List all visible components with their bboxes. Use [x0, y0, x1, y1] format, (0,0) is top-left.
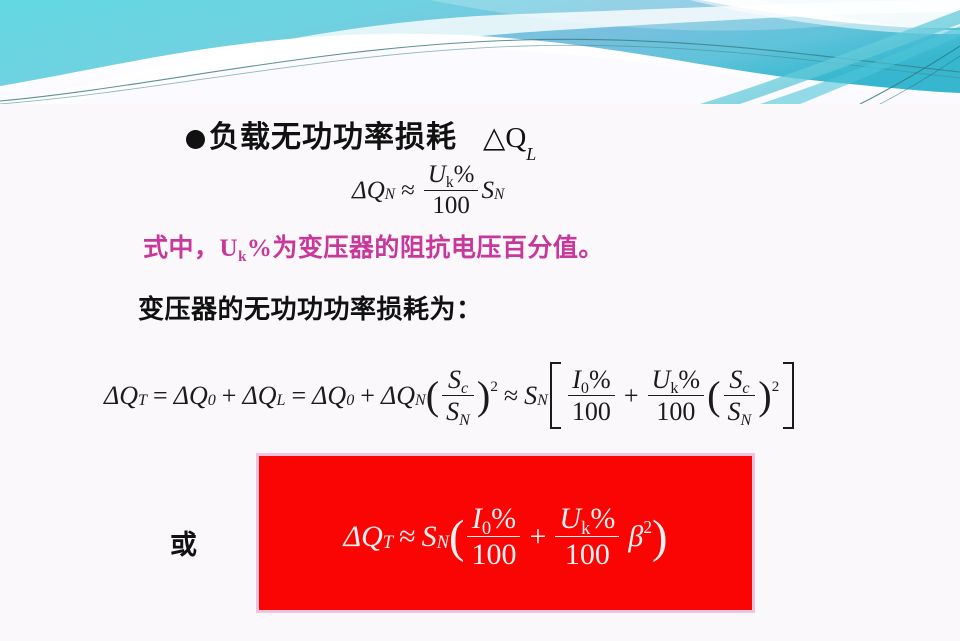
- f2-delta-4: Δ: [312, 381, 327, 411]
- f3-frac-i0: I0% 100: [467, 503, 520, 571]
- or-label: 或: [170, 523, 197, 562]
- f1-q: Q: [367, 177, 385, 205]
- f2-q-4: Q: [327, 381, 346, 411]
- f2-sub-0b: 0: [346, 392, 354, 410]
- f3-beta-sup: 2: [643, 517, 652, 538]
- f2-rparen-1: ): [477, 372, 490, 419]
- f1-relation: ≈: [401, 177, 415, 205]
- f2-i-pct: %: [589, 365, 611, 394]
- f3-uk-den: 100: [555, 536, 619, 571]
- f3-uk-num: Uk%: [555, 503, 619, 536]
- f2-sup-2: 2: [772, 379, 780, 396]
- f2-s-outer: S: [524, 381, 537, 411]
- f3-s: S: [422, 520, 437, 554]
- f2-sc-1: S: [448, 365, 461, 394]
- f2-sc-2: S: [729, 365, 742, 394]
- pink-var-sub: k: [238, 249, 247, 265]
- f2-frac1-num: Sc: [444, 366, 472, 395]
- title-delta: △: [483, 122, 505, 154]
- f2-bracket-left: [550, 362, 561, 429]
- f1-delta: Δ: [352, 177, 367, 205]
- f1-num-var: U: [428, 161, 446, 188]
- f1-num-pct: %: [454, 161, 475, 188]
- bullet-icon: [186, 130, 205, 149]
- f3-frac-uk: Uk% 100: [555, 503, 619, 571]
- f2-sn-2: S: [728, 397, 741, 426]
- f2-eq-2: =: [291, 381, 306, 411]
- pink-suffix: 为变压器的阻抗电压百分值。: [272, 233, 604, 262]
- f3-delta: Δ: [343, 520, 361, 554]
- f2-sc-2-sub: c: [742, 380, 749, 397]
- f2-frac-sc-sn-1: Sc SN: [442, 366, 474, 425]
- f2-sn-1: S: [446, 397, 459, 426]
- f2-bracket-right: [783, 362, 794, 429]
- formula-delta-qt-simplified: ΔQT ≈ SN ( I0% 100 + Uk% 100 β2 ): [343, 503, 667, 571]
- f3-i: I: [472, 502, 482, 535]
- highlighted-formula-box: ΔQT ≈ SN ( I0% 100 + Uk% 100 β2 ): [256, 453, 755, 613]
- f1-q-sub: N: [385, 186, 395, 204]
- f3-rparen: ): [652, 511, 668, 564]
- f2-sn-2-sub: N: [741, 412, 752, 429]
- f2-approx: ≈: [504, 381, 518, 411]
- f3-q-sub: T: [383, 532, 393, 554]
- f2-frac-sc-sn-2: Sc SN: [724, 366, 756, 425]
- f2-delta-5: Δ: [381, 381, 396, 411]
- f3-u-sub: k: [581, 518, 590, 539]
- f2-frac2-num: Sc: [725, 366, 753, 395]
- f2-u: U: [652, 365, 671, 394]
- f3-s-sub: N: [437, 532, 449, 554]
- section-note: 变压器的无功功功率损耗为：: [138, 289, 483, 326]
- f2-q-2: Q: [189, 381, 208, 411]
- f2-frac-i0: I0% 100: [568, 366, 615, 425]
- pink-var-letter: U: [220, 235, 239, 262]
- f2-frac1-den: SN: [442, 395, 474, 426]
- f2-delta-3: Δ: [242, 381, 257, 411]
- f1-fraction: Uk% 100: [424, 162, 479, 219]
- f2-s-outer-sub: N: [537, 392, 548, 410]
- title-text: 负载无功功率损耗: [209, 112, 457, 156]
- title-subscript: L: [526, 144, 536, 164]
- f3-i0-den: 100: [467, 536, 520, 571]
- f2-uk-num: Uk%: [648, 366, 705, 395]
- f2-u-pct: %: [678, 365, 700, 394]
- f2-frac2-den: SN: [724, 395, 756, 426]
- f2-u-sub: k: [670, 380, 678, 397]
- title-var: Q: [505, 122, 526, 154]
- f2-sub-T: T: [138, 392, 147, 410]
- pink-prefix: 式中，: [143, 233, 220, 262]
- f1-s: S: [481, 177, 494, 205]
- f3-plus: +: [529, 520, 546, 554]
- f1-num-sub: k: [446, 174, 454, 191]
- f2-delta-1: Δ: [104, 381, 119, 411]
- f2-q-1: Q: [119, 381, 138, 411]
- f2-i-sub: 0: [581, 380, 589, 397]
- f2-uk-den: 100: [648, 395, 705, 426]
- f1-denominator: 100: [424, 190, 479, 220]
- pink-explanation-note: 式中，Uk%为变压器的阻抗电压百分值。: [143, 228, 604, 264]
- f2-plus-1: +: [222, 381, 237, 411]
- f3-u-pct: %: [590, 502, 615, 535]
- f2-plus-3: +: [624, 381, 639, 411]
- f2-i0-den: 100: [568, 395, 615, 426]
- f2-plus-2: +: [360, 381, 375, 411]
- f2-lparen-2: (: [707, 372, 720, 419]
- f2-eq-1: =: [153, 381, 168, 411]
- f3-i-pct: %: [491, 502, 516, 535]
- f2-sc-1-sub: c: [461, 380, 468, 397]
- f3-beta: β: [628, 520, 643, 554]
- formula-delta-qn: ΔQN ≈ Uk% 100 SN: [352, 162, 504, 219]
- f2-sn-1-sub: N: [459, 412, 470, 429]
- f2-sub-N1: N: [415, 392, 426, 410]
- f3-u: U: [559, 502, 581, 535]
- slide-title: 负载无功功率损耗 △QL: [186, 112, 536, 159]
- f1-s-sub: N: [494, 186, 504, 204]
- title-symbol: △QL: [483, 120, 536, 159]
- f3-lparen: (: [449, 511, 465, 564]
- f2-bracket-content: I0% 100 + Uk% 100 ( Sc SN )2: [565, 362, 779, 429]
- f2-i0-num: I0%: [568, 366, 614, 395]
- f2-q-5: Q: [396, 381, 415, 411]
- f2-q-3: Q: [258, 381, 277, 411]
- f2-sup-1: 2: [490, 379, 498, 396]
- f2-delta-2: Δ: [174, 381, 189, 411]
- f2-sub-L: L: [277, 392, 286, 410]
- f3-approx: ≈: [399, 520, 415, 554]
- f2-lparen-1: (: [426, 372, 439, 419]
- f2-frac-uk: Uk% 100: [648, 366, 705, 425]
- f3-i0-num: I0%: [468, 503, 520, 536]
- f2-bracket-group: I0% 100 + Uk% 100 ( Sc SN )2: [550, 362, 794, 429]
- f2-i: I: [572, 365, 581, 394]
- f3-q: Q: [361, 520, 383, 554]
- f1-numerator: Uk%: [424, 162, 479, 190]
- f3-i-sub: 0: [482, 518, 491, 539]
- pink-variable: Uk%: [220, 235, 273, 262]
- formula-delta-qt-full: ΔQT = ΔQ0 + ΔQL = ΔQ0 + ΔQN ( Sc SN )2 ≈…: [104, 362, 796, 429]
- f2-sub-0a: 0: [208, 392, 216, 410]
- wave-banner: [0, 0, 960, 104]
- slide-canvas: 负载无功功率损耗 △QL ΔQN ≈ Uk% 100 SN 式中，Uk%为变压器…: [0, 0, 960, 641]
- pink-var-pct: %: [247, 235, 273, 262]
- f2-rparen-2: ): [758, 372, 771, 419]
